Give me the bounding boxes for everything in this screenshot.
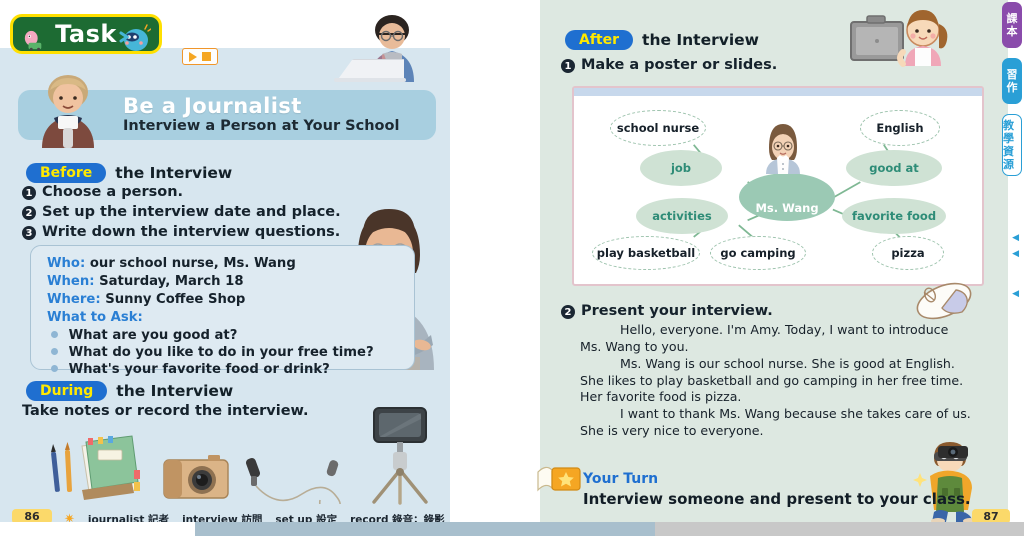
side-tab-line2: 本 bbox=[1007, 25, 1018, 38]
play-icon[interactable] bbox=[189, 52, 197, 62]
lavalier-microphone-illustration bbox=[244, 452, 354, 504]
mindmap-leaf-play-basketball: play basketball bbox=[592, 236, 700, 270]
side-tab-line1: 課 bbox=[1007, 12, 1018, 25]
monster-blue-icon bbox=[117, 23, 151, 53]
step-number: 2 bbox=[561, 305, 575, 319]
note-row-when: When: Saturday, March 18 bbox=[47, 274, 244, 289]
computer-mouse-illustration bbox=[912, 278, 976, 324]
presentation-paragraph-3: I want to thank Ms. Wang because she tak… bbox=[580, 406, 972, 439]
mindmap-leaf-pizza: pizza bbox=[872, 236, 944, 270]
before-heading-text: the Interview bbox=[115, 164, 232, 182]
mindmap-leaf-go-camping: go camping bbox=[710, 236, 806, 270]
after-heading-text: the Interview bbox=[642, 31, 759, 49]
step-text: Present your interview. bbox=[581, 303, 773, 319]
side-tab-line1: 教學 bbox=[1003, 119, 1021, 145]
notebook-and-pens-illustration bbox=[48, 420, 158, 506]
note-value: Saturday, March 18 bbox=[99, 274, 243, 289]
toolbar-segment-left bbox=[0, 522, 195, 536]
before-section-heading: Before the Interview bbox=[26, 163, 232, 183]
before-step-2: 2 Set up the interview date and place. bbox=[22, 204, 341, 220]
note-key: Who: bbox=[47, 256, 85, 271]
during-pill: During bbox=[26, 381, 107, 401]
step-number: 3 bbox=[22, 226, 36, 240]
mindmap-branch-activities: activities bbox=[636, 198, 728, 234]
note-question-1: What are you good at? bbox=[51, 328, 237, 343]
task-badge-label: Task bbox=[55, 20, 117, 48]
mindmap-leaf-school-nurse: school nurse bbox=[610, 110, 706, 146]
audio-player-controls[interactable] bbox=[182, 48, 218, 65]
leaf-label: school nurse bbox=[617, 121, 699, 135]
before-step-3: 3 Write down the interview questions. bbox=[22, 224, 340, 240]
note-ask-label: What to Ask: bbox=[47, 310, 143, 325]
after-section-heading: After the Interview bbox=[565, 30, 759, 50]
bullet-icon bbox=[51, 348, 58, 355]
step-text: Write down the interview questions. bbox=[42, 224, 340, 240]
mindmap-avatar-icon bbox=[760, 122, 806, 174]
during-section-heading: During the Interview bbox=[26, 381, 233, 401]
side-tab-line1: 習 bbox=[1007, 68, 1018, 81]
step-number: 1 bbox=[561, 59, 575, 73]
after-step-2: 2 Present your interview. bbox=[561, 303, 773, 319]
nav-arrow-icon-1[interactable]: ◀ bbox=[1012, 232, 1019, 243]
textbook-spread: Task Be a Journalist Interview a Person bbox=[0, 0, 1024, 536]
page-gutter bbox=[450, 0, 540, 536]
leaf-label: pizza bbox=[891, 246, 924, 260]
leaf-label: go camping bbox=[720, 246, 795, 260]
mindmap-poster: school nurse English play basketball go … bbox=[572, 86, 984, 286]
viewer-bottom-toolbar[interactable] bbox=[0, 522, 1024, 536]
tripod-with-phone-illustration bbox=[358, 404, 440, 506]
after-step-1: 1 Make a poster or slides. bbox=[561, 57, 777, 73]
toolbar-segment-middle[interactable] bbox=[195, 522, 655, 536]
step-text: Make a poster or slides. bbox=[581, 57, 777, 73]
before-step-1: 1 Choose a person. bbox=[22, 184, 183, 200]
note-question-3: What's your favorite food or drink? bbox=[51, 362, 330, 377]
nav-arrow-icon-2[interactable]: ◀ bbox=[1012, 248, 1019, 259]
leaf-label: English bbox=[876, 121, 923, 135]
step-text: Choose a person. bbox=[42, 184, 183, 200]
nav-arrow-icon-3[interactable]: ◀ bbox=[1012, 288, 1019, 299]
side-tab-line2: 資源 bbox=[1003, 145, 1021, 171]
photo-boy-with-microphone bbox=[30, 74, 106, 148]
mindmap-branch-job: job bbox=[640, 150, 722, 186]
note-row-where: Where: Sunny Coffee Shop bbox=[47, 292, 245, 307]
mindmap-center-node: Ms. Wang bbox=[739, 173, 835, 221]
mindmap-branch-good-at: good at bbox=[846, 150, 942, 186]
side-tab-textbook[interactable]: 課 本 bbox=[1002, 2, 1022, 48]
photo-boy-with-laptop bbox=[330, 14, 440, 82]
note-question-2: What do you like to do in your free time… bbox=[51, 345, 374, 360]
step-number: 1 bbox=[22, 186, 36, 200]
toolbar-segment-right[interactable] bbox=[655, 522, 1024, 536]
center-label: Ms. Wang bbox=[755, 201, 818, 215]
your-turn-text: Interview someone and present to your cl… bbox=[583, 490, 971, 508]
banner-subtitle: Interview a Person at Your School bbox=[123, 118, 399, 134]
leaf-label: play basketball bbox=[597, 246, 695, 260]
side-tab-teaching-resources[interactable]: 教學 資源 bbox=[1002, 114, 1022, 176]
step-number: 2 bbox=[22, 206, 36, 220]
your-turn-label: Your Turn bbox=[583, 471, 658, 487]
step-text: Set up the interview date and place. bbox=[42, 204, 341, 220]
banner-title: Be a Journalist bbox=[123, 94, 302, 118]
bullet-icon bbox=[51, 331, 58, 338]
question-text: What are you good at? bbox=[69, 328, 238, 343]
stop-icon[interactable] bbox=[202, 52, 211, 61]
presentation-paragraph-1: Hello, everyone. I'm Amy. Today, I want … bbox=[580, 322, 972, 355]
presentation-paragraph-2: Ms. Wang is our school nurse. She is goo… bbox=[580, 356, 972, 406]
note-value: our school nurse, Ms. Wang bbox=[90, 256, 296, 271]
task-badge: Task bbox=[10, 14, 162, 54]
during-instruction: Take notes or record the interview. bbox=[22, 403, 309, 419]
branch-label: job bbox=[671, 161, 691, 175]
note-key: Where: bbox=[47, 292, 101, 307]
note-key: When: bbox=[47, 274, 95, 289]
during-heading-text: the Interview bbox=[116, 382, 233, 400]
branch-label: good at bbox=[869, 161, 919, 175]
branch-label: activities bbox=[652, 209, 712, 223]
bullet-icon bbox=[51, 365, 58, 372]
camera-illustration bbox=[162, 452, 230, 504]
after-pill: After bbox=[565, 30, 633, 50]
branch-label: favorite food bbox=[852, 209, 936, 223]
mindmap-leaf-english: English bbox=[860, 110, 940, 146]
monster-pink-icon bbox=[23, 29, 45, 51]
before-pill: Before bbox=[26, 163, 106, 183]
mindmap-branch-favorite-food: favorite food bbox=[842, 198, 946, 234]
side-tab-workbook[interactable]: 習 作 bbox=[1002, 58, 1022, 104]
interview-notes-card: Who: our school nurse, Ms. Wang When: Sa… bbox=[30, 245, 415, 370]
side-tab-line2: 作 bbox=[1007, 81, 1018, 94]
illustration-girl-with-tablet bbox=[845, 8, 950, 68]
question-text: What do you like to do in your free time… bbox=[69, 345, 374, 360]
your-turn-folder-icon bbox=[536, 462, 582, 494]
question-text: What's your favorite food or drink? bbox=[69, 362, 330, 377]
note-row-who: Who: our school nurse, Ms. Wang bbox=[47, 256, 296, 271]
note-value: Sunny Coffee Shop bbox=[105, 292, 245, 307]
